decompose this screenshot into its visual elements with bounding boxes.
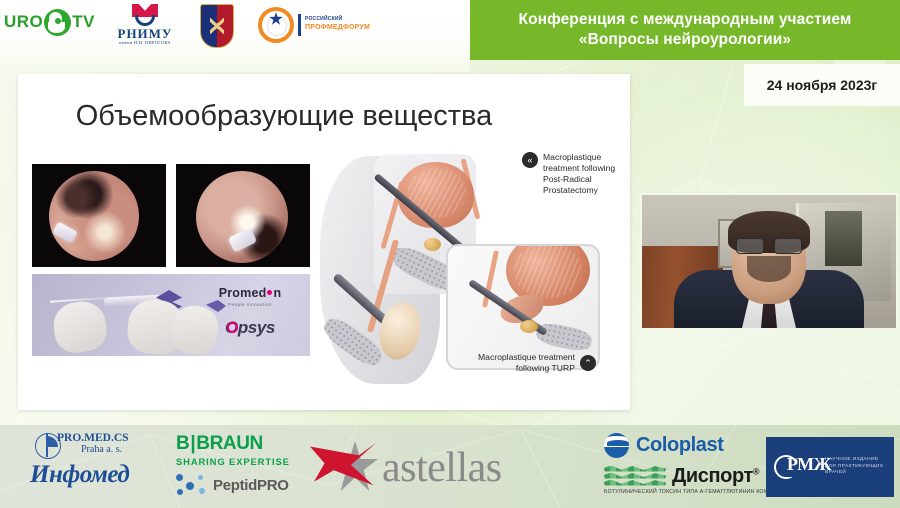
rnimu-logo-title: РНИМУ: [104, 27, 186, 40]
peptidpro-text: PeptidPRO: [213, 477, 289, 494]
promedon-logo: Promedn People Innovation: [198, 286, 302, 307]
bulking-agent-deposit: [424, 238, 441, 251]
dysport-wave-icon: [604, 466, 666, 488]
urotv-logo-text-right: TV: [72, 12, 95, 32]
sponsor-b-braun[interactable]: B|BRAUN SHARING EXPERTISE: [176, 433, 306, 467]
pro-med-cs-line1: PRO.MED.CS: [57, 432, 129, 444]
corpus-spongiosum: [534, 320, 593, 353]
sponsor-coloplast[interactable]: Coloplast: [604, 433, 724, 458]
annotation-following-turp: Macroplastique treatment following TURP …: [478, 352, 596, 374]
cystoscopy-image-right: [176, 164, 310, 267]
braun-name: BRAUN: [196, 433, 263, 454]
braun-tagline: SHARING EXPERTISE: [176, 456, 306, 467]
profmedforum-line1: РОССИЙСКИЙ: [305, 16, 342, 22]
divider-bar: [298, 14, 301, 36]
astellas-text: astellas: [382, 444, 502, 492]
coat-of-arms-logo[interactable]: [200, 4, 232, 50]
chevron-left-icon: «: [522, 152, 538, 168]
chevron-up-icon: ⌃: [580, 355, 596, 371]
broadcast-screen: URO TV РНИМУ имени Н.И. ПИРОГОВА РОССИЙС…: [0, 0, 900, 508]
gloved-hand: [51, 299, 109, 356]
anatomical-illustration: « Macroplastique treatment following Pos…: [318, 152, 630, 410]
braun-b: B: [176, 433, 189, 454]
cystoscopy-image-left: [32, 164, 166, 267]
cystoscopy-lens-view: [196, 171, 288, 263]
annotation-bottom-line2: following TURP: [516, 363, 575, 373]
slide-title: Объемообразующие вещества: [18, 100, 550, 133]
astellas-star-icon: [310, 439, 388, 497]
shield-icon: [200, 4, 234, 48]
coloplast-emblem-icon: [604, 433, 629, 458]
rmzh-emblem-icon: РМЖ: [774, 452, 818, 482]
sponsors-footer: PRO.MED.CS Praha a. s. Инфомед B|BRAUN S…: [0, 425, 900, 508]
bulking-agent-deposit: [520, 320, 538, 333]
sponsor-rmzh[interactable]: РМЖ НАУЧНОЕ ИЗДАНИЕ ДЛЯ ПРАКТИКУЮЩИХ ВРА…: [766, 437, 894, 497]
date-badge: 24 ноября 2023г: [744, 64, 900, 106]
sponsor-pro-med-cs[interactable]: PRO.MED.CS Praha a. s.: [35, 431, 155, 461]
profmedforum-line2: ПРОФМЕДФОРУМ: [305, 24, 370, 31]
annotation-top-text: Macroplastique treatment following Post-…: [543, 152, 615, 196]
glasses-icon: [736, 239, 802, 254]
bladder: [398, 162, 474, 228]
date-badge-text: 24 ноября 2023г: [767, 77, 878, 93]
promedon-tagline: People Innovation: [198, 302, 302, 307]
coloplast-text: Coloplast: [636, 434, 724, 457]
partner-logos-bar: URO TV РНИМУ имени Н.И. ПИРОГОВА РОССИЙС…: [0, 0, 470, 70]
sponsor-astellas[interactable]: astellas: [310, 437, 572, 499]
promedon-dot-icon: [267, 290, 272, 295]
promedon-brand-text: Promed: [219, 286, 267, 300]
dysport-trademark: ®: [753, 466, 759, 476]
rmzh-text: РМЖ: [787, 454, 831, 475]
urotv-emblem-icon: [44, 9, 71, 36]
rnimu-logo-subtitle: имени Н.И. ПИРОГОВА: [104, 40, 186, 45]
pro-med-cs-line2: Praha a. s.: [81, 444, 122, 455]
annotation-top-line1: Macroplastique: [543, 152, 601, 162]
sponsor-peptidpro[interactable]: PeptidPRO: [176, 470, 326, 500]
opsys-product-name: Opsys: [204, 318, 296, 338]
molecule-icon: [176, 472, 208, 498]
promedon-product-photo: Promedn People Innovation Opsys: [32, 274, 310, 356]
cystoscopy-lens-view: [49, 171, 139, 261]
speaker-beard: [747, 256, 791, 282]
conference-title-line2: «Вопросы нейроурологии»: [579, 30, 791, 50]
presentation-slide: Объемообразующие вещества Promedn People…: [18, 74, 630, 410]
dysport-name: Диспорт: [672, 465, 753, 487]
urotv-logo-text-left: URO: [4, 12, 43, 32]
rmzh-subtitle: НАУЧНОЕ ИЗДАНИЕ ДЛЯ ПРАКТИКУЮЩИХ ВРАЧЕЙ: [825, 457, 886, 477]
rnimu-emblem-icon: [132, 4, 158, 26]
dysport-text: Диспорт®: [672, 465, 759, 488]
conference-title-banner: Конференция с международным участием «Во…: [470, 0, 900, 60]
annotation-bottom-line1: Macroplastique treatment: [478, 352, 575, 362]
annotation-bottom-text: Macroplastique treatment following TURP: [478, 352, 575, 374]
annotation-top-line2: treatment following: [543, 163, 615, 173]
promedon-brand-tail: n: [273, 286, 281, 300]
annotation-top-line4: Prostatectomy: [543, 185, 598, 195]
urotv-logo[interactable]: URO TV: [4, 5, 96, 39]
conference-title-line1: Конференция с международным участием: [519, 10, 852, 30]
profmedforum-logo[interactable]: РОССИЙСКИЙ ПРОФМЕДФОРУМ: [258, 5, 388, 49]
annotation-top-line3: Post-Radical: [543, 174, 592, 184]
sponsor-infomed[interactable]: Инфомед: [30, 461, 170, 501]
speaker-video-panel[interactable]: [640, 193, 898, 330]
annotation-post-radical-prostatectomy: « Macroplastique treatment following Pos…: [522, 152, 615, 196]
rnimu-logo[interactable]: РНИМУ имени Н.И. ПИРОГОВА: [104, 4, 186, 56]
